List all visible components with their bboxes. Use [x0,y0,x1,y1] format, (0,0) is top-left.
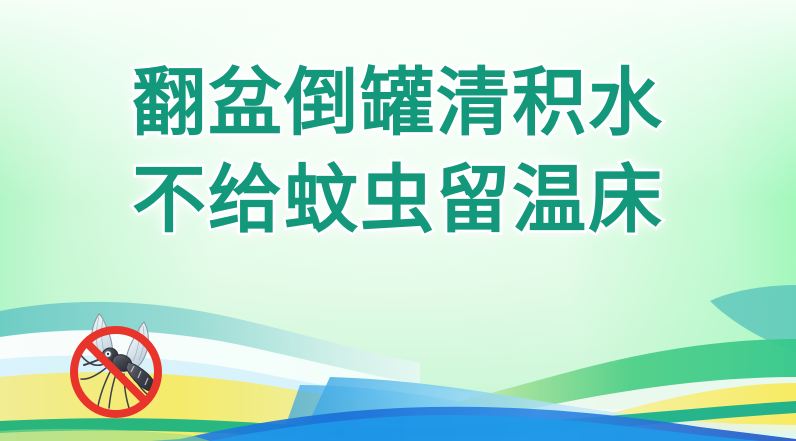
no-mosquito-icon [58,300,178,422]
headline-block: 翻盆倒罐清积水 不给蚊虫留温床 [0,62,796,242]
headline-line-1: 翻盆倒罐清积水 [0,62,796,145]
poster-canvas: 翻盆倒罐清积水 不给蚊虫留温床 [0,0,796,441]
headline-line-2: 不给蚊虫留温床 [0,159,796,242]
